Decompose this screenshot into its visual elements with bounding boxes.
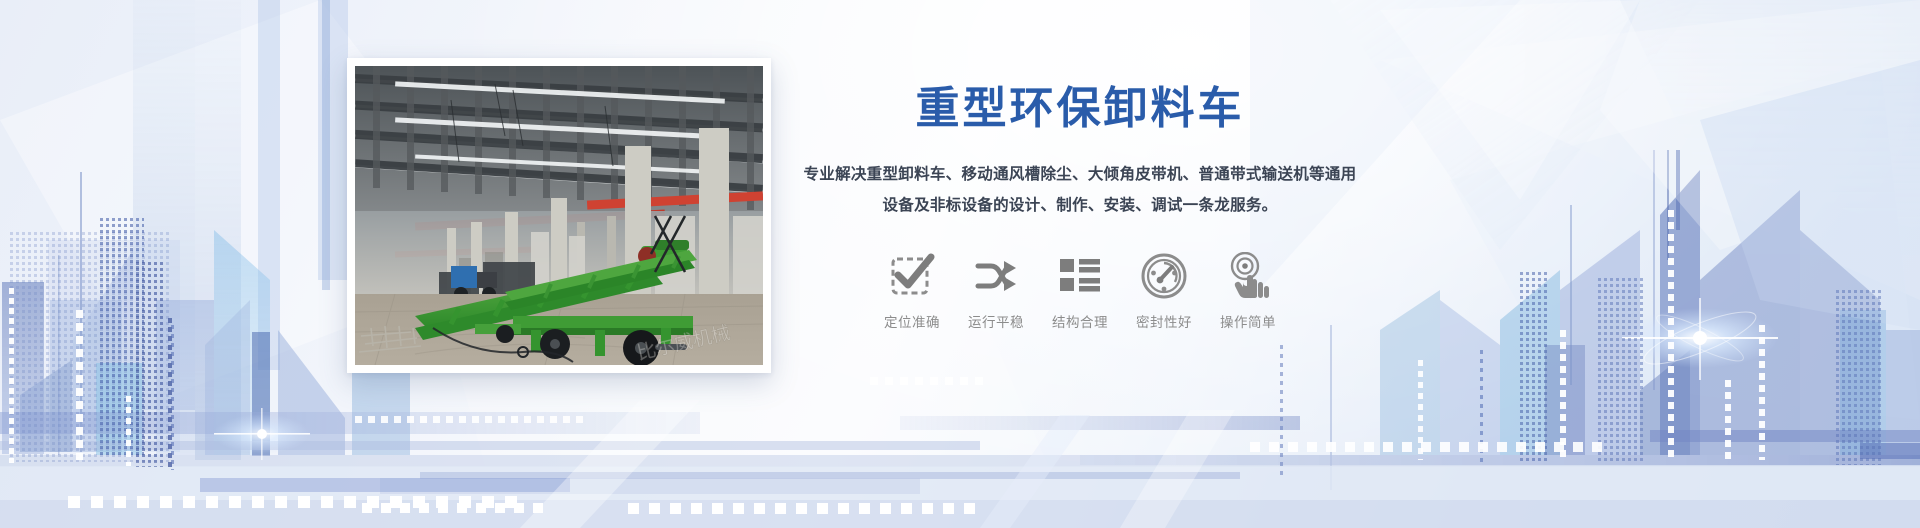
product-photo-card[interactable]: 比尔威机械 [347,58,771,373]
page-title: 重型环保卸料车 [800,84,1360,133]
feature-item-1[interactable]: 运行平稳 [958,247,1034,331]
shuffle-icon [958,247,1034,305]
feature-item-3[interactable]: 密封性好 [1126,247,1202,331]
feature-label-0: 定位准确 [874,311,950,331]
gauge-seal-icon [1126,247,1202,305]
dot-column-center [1280,345,1285,475]
check-box-icon [874,247,950,305]
product-photo: 比尔威机械 [355,66,763,365]
dot-grid-right [1520,272,1550,462]
list-grid-icon [1042,247,1118,305]
feature-label-2: 结构合理 [1042,311,1118,331]
window-column-left [9,288,16,463]
dot-grid-left [10,232,170,462]
dot-grid-left-2 [100,218,144,458]
feature-label-4: 操作简单 [1210,311,1286,331]
square-row-bottom-left2 [362,503,543,513]
lens-flare-left [214,408,310,460]
factory-scene-illustration: 比尔威机械 [355,66,763,365]
banner-content: 重型环保卸料车 专业解决重型卸料车、移动通风槽除尘、大倾角皮带机、普通带式输送机… [800,84,1360,331]
window-column-left-2 [76,310,85,460]
square-row-bottom-left [68,496,517,508]
window-column-right-2 [1560,330,1568,460]
window-column-left-3 [126,396,133,466]
banner-subtitle: 专业解决重型卸料车、移动通风槽除尘、大倾角皮带机、普通带式输送机等通用设备及非标… [800,159,1360,221]
square-row-upper [870,377,983,385]
square-row-mid-left [355,416,583,423]
dot-grid-right-2 [1598,278,1644,463]
dot-column-mid-left [171,325,176,470]
feature-item-2[interactable]: 结构合理 [1042,247,1118,331]
feature-list: 定位准确 运行平稳 [800,247,1360,331]
dot-grid-right-3 [1836,290,1882,465]
feature-item-4[interactable]: 操作简单 [1210,247,1286,331]
window-column-right-3 [1759,325,1767,460]
dot-grid-left-3 [136,262,166,467]
square-row-bottom-mid [628,503,975,514]
window-column-right-5 [1418,360,1425,460]
window-column-right-4 [1725,380,1733,460]
feature-label-3: 密封性好 [1126,311,1202,331]
square-row-right [1250,442,1602,452]
lens-flare-right [1622,298,1778,380]
feature-label-1: 运行平稳 [958,311,1034,331]
hero-banner: 比尔威机械 重型环保卸料车 专业解决重型卸料车、移动通风槽除尘、大倾角皮带机、普… [0,0,1920,528]
touch-hand-icon [1210,247,1286,305]
dot-column-left [168,318,174,470]
dot-column-right [1480,350,1485,465]
feature-item-0[interactable]: 定位准确 [874,247,950,331]
window-column-right [1668,210,1676,460]
